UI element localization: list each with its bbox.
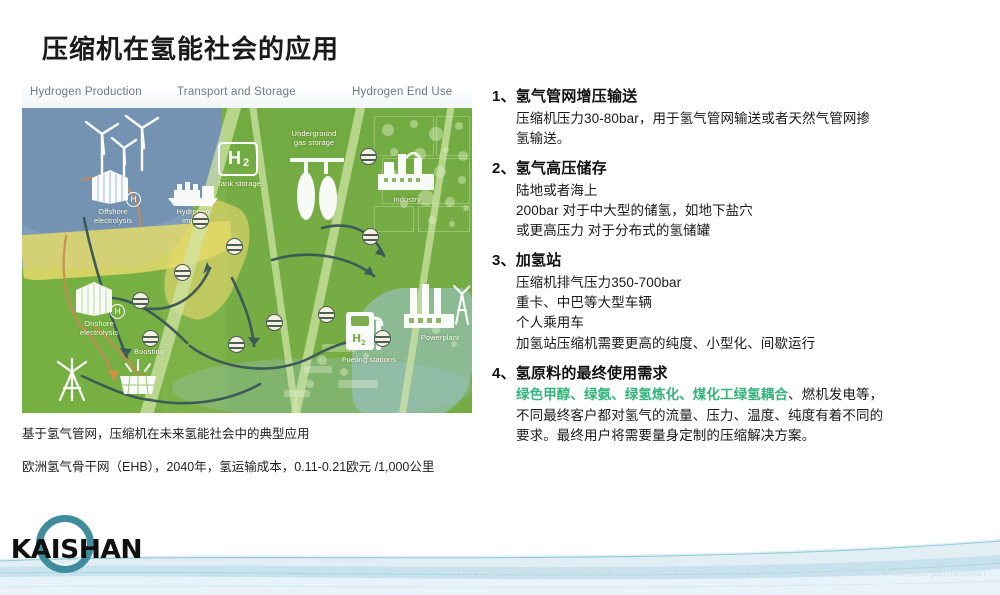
- h2-letter: H: [228, 149, 241, 167]
- section-2: 2、氢气高压储存 陆地或者海上 200bar 对于中大型的储氢，如地下盐穴 或更…: [492, 158, 992, 241]
- page-title: 压缩机在氢能社会的应用: [42, 36, 339, 62]
- left-column: Hydrogen Production Transport and Storag…: [22, 86, 472, 477]
- h2-badge-offshore: H: [126, 192, 141, 207]
- facility-label-powerplant: Powerplant: [402, 334, 472, 343]
- section-4-number: 4、: [492, 365, 516, 382]
- compressor-node: [266, 314, 283, 331]
- compressor-node: [132, 292, 149, 309]
- footer-disclaimer: This document is the technical achieveme…: [453, 567, 986, 579]
- facility-label-fueling-stations: Fueling stations: [328, 356, 410, 365]
- illustration-caption-primary: 基于氢气管网，压缩机在未来氢能社会中的典型应用: [22, 425, 472, 444]
- facility-label-boosting: Boosting: [118, 348, 180, 357]
- section-2-title: 氢气高压储存: [516, 160, 607, 177]
- compressor-node: [228, 336, 245, 353]
- section-4: 4、氢原料的最终使用需求 绿色甲醇、绿氨、绿氢炼化、煤化工绿氢耦合、燃机发电等，…: [492, 363, 992, 446]
- illustration-header-enduse: Hydrogen End Use: [352, 86, 452, 98]
- illustration-caption-secondary: 欧洲氢气骨干网（EHB），2040年，氢运输成本，0.11-0.21欧元 /1,…: [22, 458, 462, 477]
- facility-label-onshore-electrolysis: Onshore electrolysis: [66, 320, 132, 337]
- tank-storage-icon: H 2: [218, 142, 258, 176]
- compressor-node: [226, 238, 243, 255]
- illustration-header-transport: Transport and Storage: [177, 86, 296, 98]
- section-3-heading: 3、加氢站: [492, 250, 992, 273]
- section-4-highlight: 绿色甲醇、绿氨、绿氢炼化、煤化工绿氢耦合: [516, 387, 788, 402]
- section-1-body: 压缩机压力30-80bar，用于氢气管网输送或者天然气管网掺 氢输送。: [492, 109, 992, 150]
- facility-label-underground-gas-storage: Underground gas storage: [274, 130, 354, 147]
- illustration-header-production: Hydrogen Production: [30, 86, 142, 98]
- compressor-node: [142, 330, 159, 347]
- svg-text:2: 2: [361, 339, 366, 347]
- section-1-number: 1、: [492, 88, 516, 105]
- section-2-heading: 2、氢气高压储存: [492, 158, 992, 181]
- section-3-body: 压缩机排气压力350-700bar 重卡、中巴等大型车辆 个人乘用车 加氢站压缩…: [492, 273, 992, 354]
- section-4-title: 氢原料的最终使用需求: [516, 365, 668, 382]
- h2-badge-onshore: H: [110, 304, 125, 319]
- logo-wordmark: KAISHAN: [11, 535, 142, 565]
- compressor-node: [360, 148, 377, 165]
- hydrogen-value-chain-illustration: H Offshore electrolysis Hydrogen import: [22, 108, 472, 413]
- h2-subscript: 2: [243, 158, 249, 169]
- underground-gas-storage-icon: [284, 148, 350, 220]
- section-3-title: 加氢站: [516, 252, 562, 269]
- section-1-heading: 1、氢气管网增压输送: [492, 86, 992, 109]
- facility-label-industry: Industry: [372, 196, 442, 205]
- section-3: 3、加氢站 压缩机排气压力350-700bar 重卡、中巴等大型车辆 个人乘用车…: [492, 250, 992, 354]
- wind-farm-icon: [50, 358, 94, 402]
- compressor-node: [362, 228, 379, 245]
- slide-footer: KAISHAN This document is the technical a…: [0, 503, 1000, 595]
- section-2-number: 2、: [492, 160, 516, 177]
- facility-label-tank-storage: Tank storage: [208, 180, 270, 189]
- powerplant-icon: [400, 280, 470, 334]
- section-1: 1、氢气管网增压输送 压缩机压力30-80bar，用于氢气管网输送或者天然气管网…: [492, 86, 992, 149]
- svg-text:H: H: [352, 332, 361, 345]
- facility-label-offshore-electrolysis: Offshore electrolysis: [80, 208, 146, 225]
- section-4-heading: 4、氢原料的最终使用需求: [492, 363, 992, 386]
- section-4-body: 绿色甲醇、绿氨、绿氢炼化、煤化工绿氢耦合、燃机发电等， 不同最终客户都对氢气的流…: [492, 385, 992, 446]
- fueling-station-icon: H 2: [340, 304, 394, 354]
- compressor-node: [374, 330, 391, 347]
- section-1-title: 氢气管网增压输送: [516, 88, 638, 105]
- solar-panel-icon: [114, 358, 162, 400]
- illustration-headers: Hydrogen Production Transport and Storag…: [22, 86, 472, 108]
- compressor-node: [174, 264, 191, 281]
- industry-icon: [374, 144, 440, 196]
- compressor-node: [318, 306, 335, 323]
- compressor-node: [192, 212, 209, 229]
- section-2-body: 陆地或者海上 200bar 对于中大型的储氢，如地下盐穴 或更高压力 对于分布式…: [492, 181, 992, 242]
- kaishan-logo: KAISHAN: [8, 515, 178, 577]
- section-3-number: 3、: [492, 252, 516, 269]
- content-list: 1、氢气管网增压输送 压缩机压力30-80bar，用于氢气管网输送或者天然气管网…: [492, 86, 992, 455]
